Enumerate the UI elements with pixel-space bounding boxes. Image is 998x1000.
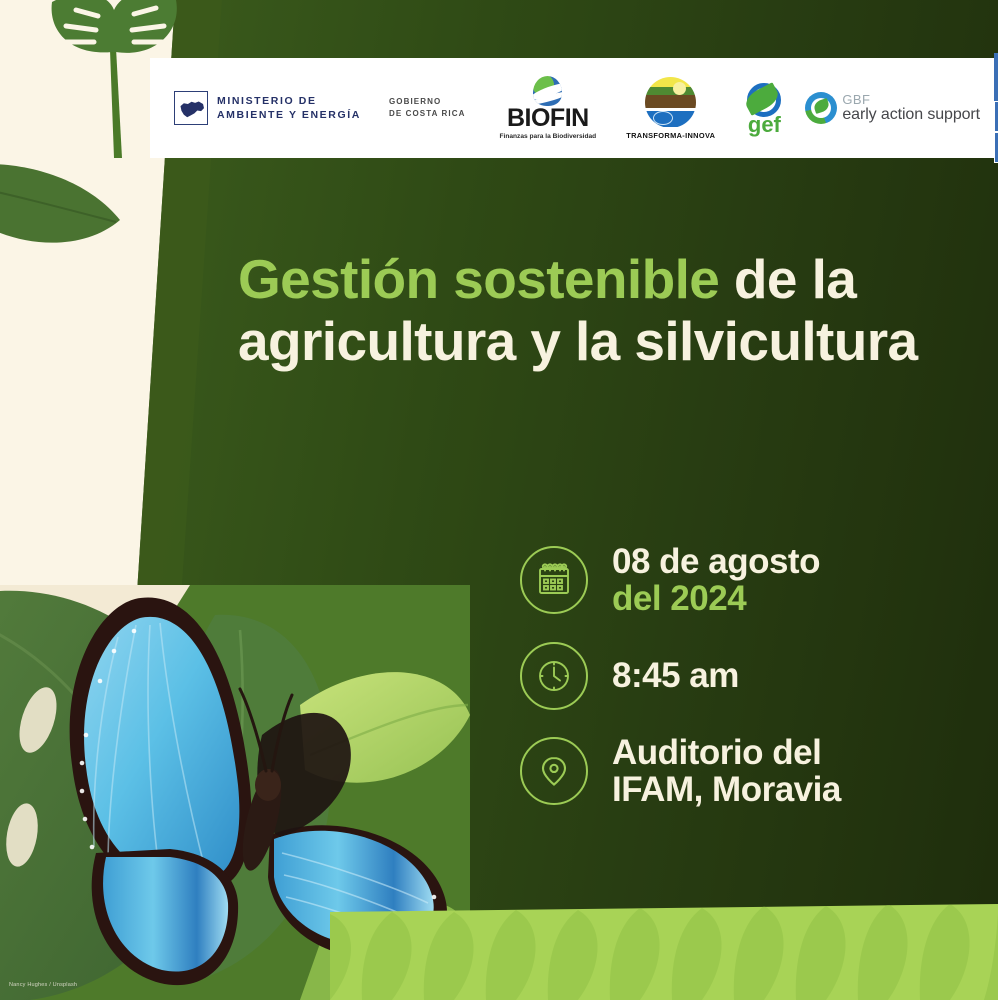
logo-gobierno: GOBIERNO DE COSTA RICA bbox=[389, 96, 466, 119]
event-time-line1: 8:45 am bbox=[612, 657, 739, 694]
biofin-wordmark: BIOFIN bbox=[507, 107, 589, 131]
logo-transforma-innova: TRANSFORMA-INNOVA bbox=[626, 77, 715, 140]
logo-minae: MINISTERIO DE AMBIENTE Y ENERGÍA bbox=[174, 91, 361, 125]
un-globe-icon bbox=[994, 53, 998, 101]
minae-line1: MINISTERIO DE bbox=[217, 94, 361, 108]
water-drop-icon bbox=[533, 76, 562, 106]
event-location-text: Auditorio del IFAM, Moravia bbox=[612, 734, 841, 809]
costa-rica-map-icon bbox=[174, 91, 208, 125]
gobierno-label: GOBIERNO DE COSTA RICA bbox=[389, 96, 466, 119]
gef-leaf-ring-icon bbox=[743, 81, 785, 121]
logo-pnud: P N U D bbox=[994, 53, 998, 163]
gobierno-line2: DE COSTA RICA bbox=[389, 108, 466, 120]
minae-line2: AMBIENTE Y ENERGÍA bbox=[217, 108, 361, 122]
gbf-line1: GBF bbox=[842, 93, 980, 106]
event-location-row: Auditorio del IFAM, Moravia bbox=[520, 734, 980, 809]
poster-canvas: MINISTERIO DE AMBIENTE Y ENERGÍA GOBIERN… bbox=[0, 0, 998, 1000]
event-location-line2: IFAM, Moravia bbox=[612, 771, 841, 808]
transforma-wordmark: TRANSFORMA-INNOVA bbox=[626, 131, 715, 140]
calendar-icon bbox=[520, 546, 588, 614]
location-pin-icon bbox=[520, 737, 588, 805]
gobierno-line1: GOBIERNO bbox=[389, 96, 466, 108]
event-time-text: 8:45 am bbox=[612, 657, 739, 694]
gbf-leaf-circle-icon bbox=[805, 92, 837, 124]
event-time-row: 8:45 am bbox=[520, 642, 980, 710]
event-date-line1: 08 de agosto bbox=[612, 543, 820, 580]
biofin-tagline: Finanzas para la Biodiversidad bbox=[499, 133, 596, 140]
event-date-text: 08 de agosto del 2024 bbox=[612, 543, 820, 618]
clock-icon bbox=[520, 642, 588, 710]
event-location-line1: Auditorio del bbox=[612, 734, 841, 771]
logo-gef: gef bbox=[743, 81, 785, 135]
pnud-letter-p: P bbox=[994, 101, 998, 132]
gbf-line2: early action support bbox=[842, 107, 980, 123]
photo-credit: Nancy Hughes / Unsplash bbox=[9, 982, 77, 988]
logo-gbf-early-action-support: GBF early action support bbox=[805, 92, 980, 124]
sponsor-logo-bar: MINISTERIO DE AMBIENTE Y ENERGÍA GOBIERN… bbox=[150, 58, 998, 158]
event-details: 08 de agosto del 2024 8:45 am bbox=[520, 543, 980, 809]
minae-label: MINISTERIO DE AMBIENTE Y ENERGÍA bbox=[217, 94, 361, 123]
page-title: Gestión sostenible de la agricultura y l… bbox=[238, 248, 938, 372]
pnud-letter-u: U bbox=[994, 132, 998, 163]
logo-biofin: BIOFIN Finanzas para la Biodiversidad bbox=[499, 76, 596, 140]
leaf-icon bbox=[0, 150, 150, 270]
title-highlight: Gestión sostenible bbox=[238, 248, 719, 310]
event-date-row: 08 de agosto del 2024 bbox=[520, 543, 980, 618]
landscape-globe-icon bbox=[645, 77, 696, 128]
event-date-line2: del 2024 bbox=[612, 580, 820, 617]
